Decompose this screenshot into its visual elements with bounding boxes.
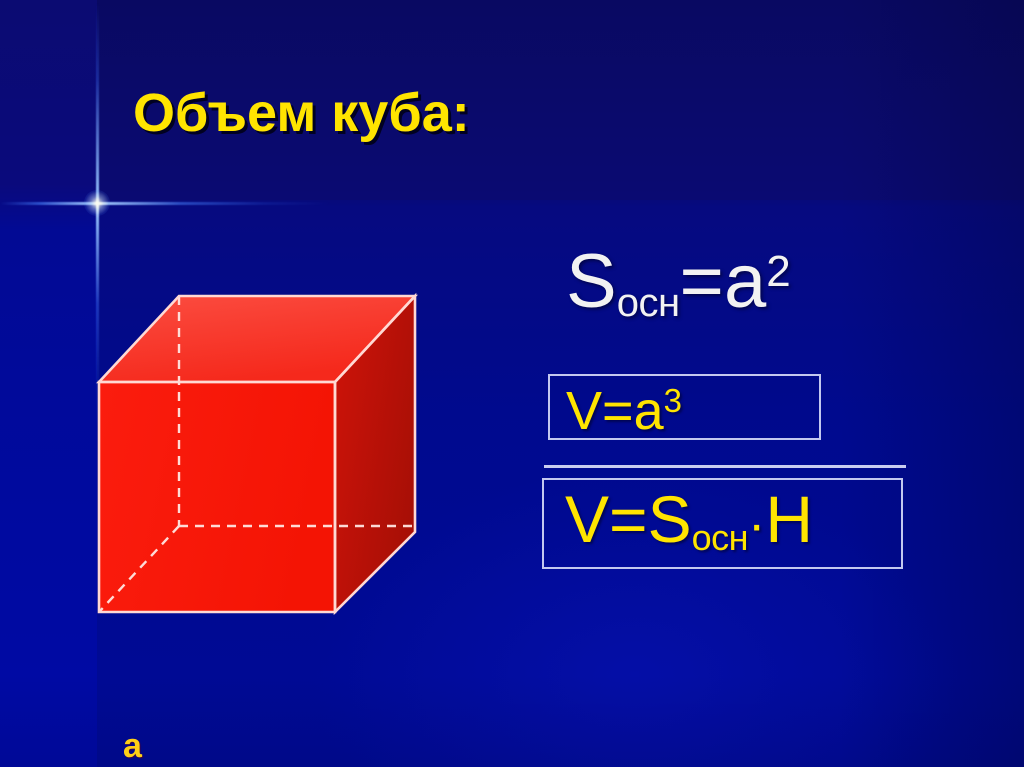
formula-separator-line <box>544 465 906 468</box>
formula-base-area-operand: a <box>724 239 766 324</box>
formula-base-area-exponent: 2 <box>766 247 790 296</box>
formula-base-area-subscript: осн <box>617 281 680 325</box>
formula-volume-general-lead: V <box>565 482 609 556</box>
formula-volume-general-height: H <box>765 482 813 556</box>
slide-title: Объем куба: <box>133 82 470 144</box>
formula-volume-cube-exponent: 3 <box>664 382 682 419</box>
formula-volume-general-operand: S <box>648 482 692 556</box>
cube-edge-label-left: a <box>123 727 142 766</box>
formula-volume-cube-operand: a <box>634 381 664 441</box>
formula-base-area: Sосн=a2 <box>566 238 791 326</box>
formula-volume-general-dot: · <box>748 496 765 554</box>
formula-volume-general-equals: = <box>609 482 648 556</box>
cube-face-front <box>99 382 335 612</box>
formula-volume-cube: V=a3 <box>566 380 682 442</box>
formula-volume-general: V=Sосн·H <box>565 481 813 559</box>
formula-base-area-equals: = <box>680 239 724 324</box>
formula-volume-cube-equals: = <box>602 381 634 441</box>
cube-illustration: a a a <box>90 282 430 627</box>
formula-base-area-lead: S <box>566 239 617 324</box>
presentation-slide: Объем куба: <box>0 0 1024 767</box>
formula-volume-cube-lead: V <box>566 381 602 441</box>
formula-volume-general-subscript: осн <box>692 517 748 558</box>
